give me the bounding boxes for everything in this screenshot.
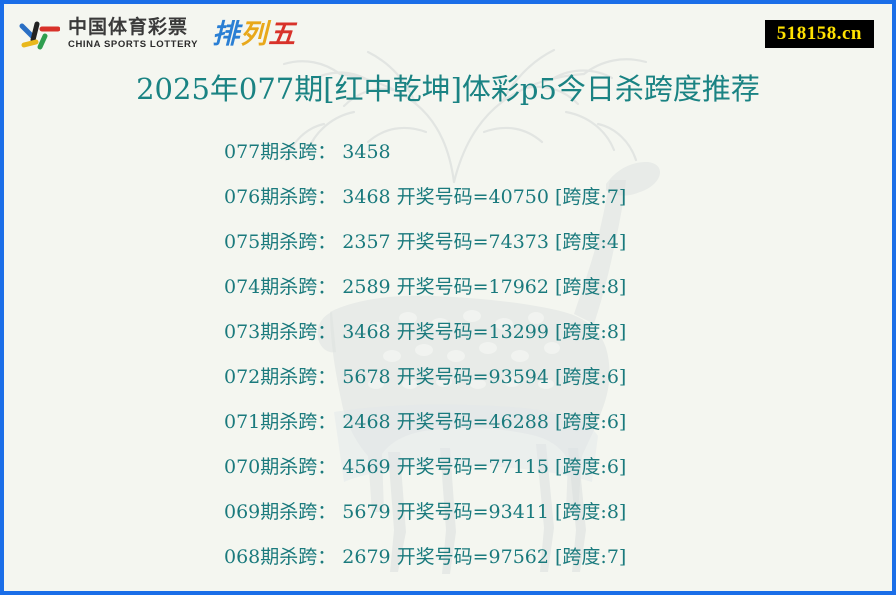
row-span-tag: [跨度:6]: [555, 411, 626, 433]
row-kill-span: 2357: [342, 231, 390, 253]
row-draw-number: 97562: [489, 546, 549, 568]
game-name-pailiewu: 排列五: [212, 21, 296, 48]
row-draw-label: 开奖号码=: [397, 231, 489, 253]
row-issue-label: 072期杀跨：: [224, 366, 336, 388]
row-draw-label: 开奖号码=: [397, 501, 489, 523]
row-draw-label: 开奖号码=: [397, 411, 489, 433]
game-name-char-3: 五: [268, 19, 296, 50]
row-draw-number: 93411: [489, 501, 549, 523]
list-item: 071期杀跨：2468开奖号码=46288[跨度:6]: [224, 400, 892, 445]
game-name-char-2: 列: [240, 19, 268, 50]
row-span-tag: [跨度:7]: [555, 546, 626, 568]
row-kill-span: 5679: [342, 501, 390, 523]
row-issue-label: 074期杀跨：: [224, 276, 336, 298]
brand-logo-group[interactable]: 中国体育彩票 CHINA SPORTS LOTTERY 排列五: [18, 17, 296, 51]
list-item: 075期杀跨：2357开奖号码=74373[跨度:4]: [224, 220, 892, 265]
row-issue-label: 070期杀跨：: [224, 456, 336, 478]
row-issue-label: 076期杀跨：: [224, 186, 336, 208]
row-kill-span: 5678: [342, 366, 390, 388]
list-item: 077期杀跨：3458: [224, 130, 892, 175]
brand-name-cn: 中国体育彩票: [68, 18, 198, 37]
list-item: 074期杀跨：2589开奖号码=17962[跨度:8]: [224, 265, 892, 310]
list-item: 069期杀跨：5679开奖号码=93411[跨度:8]: [224, 490, 892, 535]
site-url-badge[interactable]: 518158.cn: [765, 20, 874, 48]
row-draw-number: 13299: [489, 321, 549, 343]
site-header: 中国体育彩票 CHINA SPORTS LOTTERY 排列五 518158.c…: [4, 4, 892, 58]
list-item: 068期杀跨：2679开奖号码=97562[跨度:7]: [224, 535, 892, 580]
row-span-tag: [跨度:6]: [555, 456, 626, 478]
row-kill-span: 2468: [342, 411, 390, 433]
row-issue-label: 071期杀跨：: [224, 411, 336, 433]
row-draw-label: 开奖号码=: [397, 321, 489, 343]
game-name-char-1: 排: [212, 19, 240, 50]
row-draw-number: 77115: [489, 456, 549, 478]
list-item: 072期杀跨：5678开奖号码=93594[跨度:6]: [224, 355, 892, 400]
row-draw-label: 开奖号码=: [397, 456, 489, 478]
row-draw-label: 开奖号码=: [397, 366, 489, 388]
row-kill-span: 3458: [342, 141, 390, 163]
row-span-tag: [跨度:8]: [555, 501, 626, 523]
brand-name-en: CHINA SPORTS LOTTERY: [68, 40, 198, 50]
china-sports-lottery-logo-icon: [18, 17, 60, 51]
row-draw-number: 40750: [489, 186, 549, 208]
row-span-tag: [跨度:8]: [555, 321, 626, 343]
row-span-tag: [跨度:7]: [555, 186, 626, 208]
page-title: 2025年077期[红中乾坤]体彩p5今日杀跨度推荐: [4, 66, 892, 108]
row-span-tag: [跨度:8]: [555, 276, 626, 298]
row-issue-label: 069期杀跨：: [224, 501, 336, 523]
page-container: 中国体育彩票 CHINA SPORTS LOTTERY 排列五 518158.c…: [0, 0, 896, 595]
row-draw-number: 74373: [489, 231, 549, 253]
row-issue-label: 073期杀跨：: [224, 321, 336, 343]
row-draw-number: 93594: [489, 366, 549, 388]
row-issue-label: 077期杀跨：: [224, 141, 336, 163]
row-kill-span: 3468: [342, 186, 390, 208]
list-item: 070期杀跨：4569开奖号码=77115[跨度:6]: [224, 445, 892, 490]
row-kill-span: 2679: [342, 546, 390, 568]
row-draw-number: 17962: [489, 276, 549, 298]
row-span-tag: [跨度:4]: [555, 231, 626, 253]
row-kill-span: 3468: [342, 321, 390, 343]
row-kill-span: 4569: [342, 456, 390, 478]
prediction-list: 077期杀跨：3458 076期杀跨：3468开奖号码=40750[跨度:7] …: [4, 130, 892, 580]
row-draw-label: 开奖号码=: [397, 276, 489, 298]
list-item: 073期杀跨：3468开奖号码=13299[跨度:8]: [224, 310, 892, 355]
row-draw-label: 开奖号码=: [397, 186, 489, 208]
list-item: 076期杀跨：3468开奖号码=40750[跨度:7]: [224, 175, 892, 220]
row-kill-span: 2589: [342, 276, 390, 298]
row-draw-number: 46288: [489, 411, 549, 433]
row-issue-label: 075期杀跨：: [224, 231, 336, 253]
brand-text-block: 中国体育彩票 CHINA SPORTS LOTTERY: [68, 18, 198, 50]
row-span-tag: [跨度:6]: [555, 366, 626, 388]
row-issue-label: 068期杀跨：: [224, 546, 336, 568]
row-draw-label: 开奖号码=: [397, 546, 489, 568]
